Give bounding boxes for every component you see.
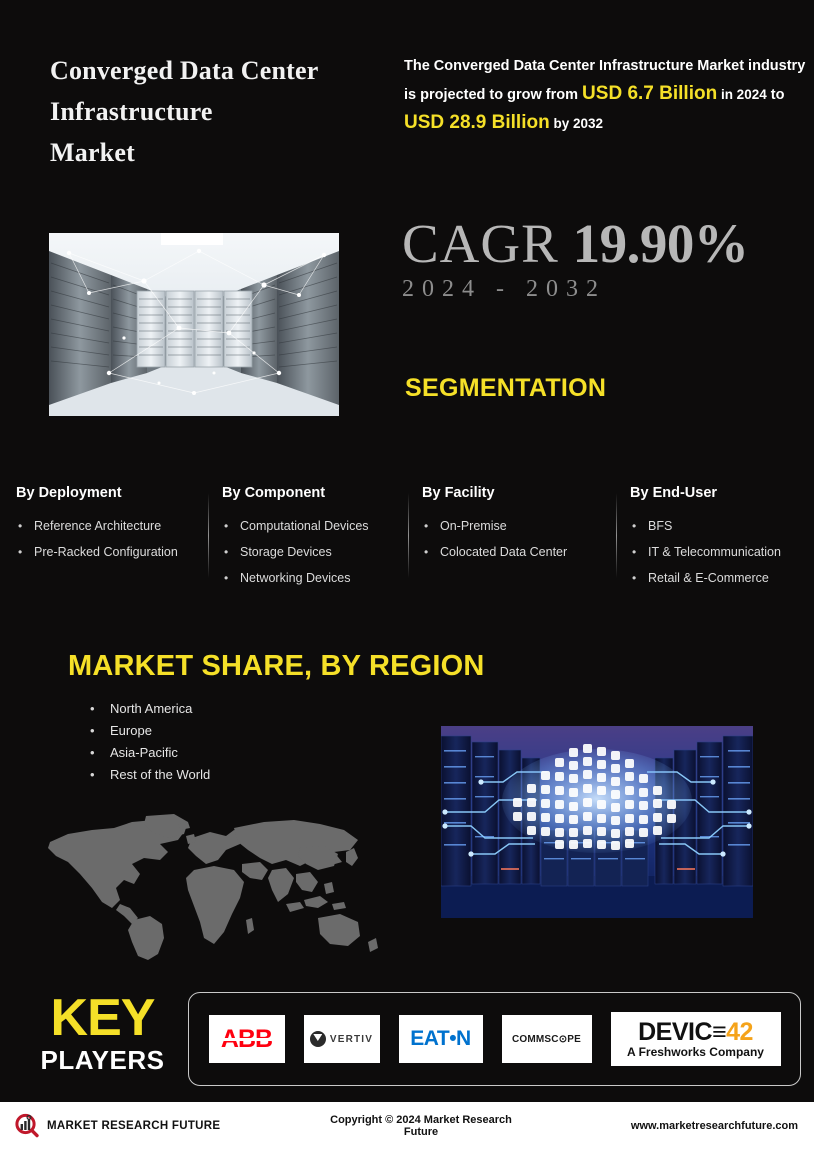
column-divider	[208, 493, 209, 578]
logo-abb-text: ABB	[221, 1025, 272, 1054]
logo-device42-number: 42	[726, 1018, 753, 1046]
cagr-label: CAGR	[402, 213, 559, 274]
region-heading: MARKET SHARE, BY REGION	[68, 650, 485, 683]
logo-device42-text: DEVIC≡	[638, 1018, 726, 1046]
infographic-root: Converged Data Center Infrastructure Mar…	[0, 0, 814, 1150]
segmentation-item-list: BFS IT & Telecommunication Retail & E-Co…	[630, 513, 814, 591]
cloud-datacenter-image	[441, 726, 753, 918]
logo-commscope: COMMSC⊙PE	[502, 1015, 592, 1063]
logo-eaton: EAT•N	[399, 1015, 483, 1063]
segmentation-heading: SEGMENTATION	[405, 374, 606, 403]
key-players-logo-box: ABB VERTIV EAT•N COMMSC⊙PE DEVIC≡42 A Fr…	[188, 992, 801, 1086]
key-players-word-players: PLAYERS	[30, 1044, 175, 1076]
segmentation-item: Computational Devices	[222, 513, 408, 539]
logo-device42-tagline: A Freshworks Company	[627, 1045, 764, 1060]
region-item: Asia-Pacific	[88, 742, 210, 764]
world-map	[28, 808, 380, 960]
logo-eaton-text: EAT•N	[410, 1027, 470, 1051]
segmentation-item: On-Premise	[422, 513, 616, 539]
segmentation-column-title: By Deployment	[16, 485, 208, 501]
segmentation-columns: By Deployment Reference Architecture Pre…	[0, 485, 814, 591]
segmentation-item: Colocated Data Center	[422, 539, 616, 565]
footer-brand-text: MARKET RESEARCH FUTURE	[47, 1120, 220, 1132]
page-title-line-3: Market	[50, 132, 380, 173]
cagr-block: CAGR 19.90% 2024 - 2032	[402, 214, 802, 303]
page-title: Converged Data Center Infrastructure Mar…	[50, 50, 380, 173]
description-value-2024: USD 6.7 Billion	[582, 83, 717, 104]
market-description: The Converged Data Center Infrastructure…	[404, 52, 814, 138]
column-divider	[408, 493, 409, 578]
key-players-word-key: KEY	[30, 992, 175, 1044]
segmentation-column-deployment: By Deployment Reference Architecture Pre…	[0, 485, 208, 591]
description-to: to	[771, 87, 785, 103]
logo-device42: DEVIC≡42 A Freshworks Company	[611, 1012, 781, 1066]
column-divider	[616, 493, 617, 578]
footer-copyright: Copyright © 2024 Market Research Future	[314, 1114, 528, 1138]
segmentation-item-list: Reference Architecture Pre-Racked Config…	[16, 513, 208, 565]
segmentation-item: IT & Telecommunication	[630, 539, 814, 565]
segmentation-column-title: By End-User	[630, 485, 814, 501]
segmentation-item: Reference Architecture	[16, 513, 208, 539]
cagr-headline: CAGR 19.90%	[402, 214, 802, 274]
region-item: Rest of the World	[88, 764, 210, 786]
page-title-line-2: Infrastructure	[50, 91, 380, 132]
page-title-line-1: Converged Data Center	[50, 50, 380, 91]
segmentation-column-title: By Facility	[422, 485, 616, 501]
segmentation-column-title: By Component	[222, 485, 408, 501]
description-value-2032: USD 28.9 Billion	[404, 112, 550, 133]
cagr-year-range: 2024 - 2032	[402, 276, 802, 303]
footer-brand: MARKET RESEARCH FUTURE	[14, 1113, 314, 1139]
footer-url[interactable]: www.marketresearchfuture.com	[528, 1120, 798, 1132]
description-year-2024: in 2024	[717, 87, 767, 102]
key-players-label: KEY PLAYERS	[30, 992, 175, 1076]
logo-vertiv-text: VERTIV	[330, 1034, 373, 1045]
cloud-datacenter-illustration	[441, 726, 753, 918]
segmentation-column-facility: By Facility On-Premise Colocated Data Ce…	[408, 485, 616, 591]
segmentation-item: Retail & E-Commerce	[630, 565, 814, 591]
segmentation-item: Pre-Racked Configuration	[16, 539, 208, 565]
description-year-2032: by 2032	[550, 116, 603, 131]
logo-commscope-text: COMMSC⊙PE	[512, 1034, 581, 1045]
segmentation-item: Networking Devices	[222, 565, 408, 591]
region-item: North America	[88, 698, 210, 720]
market-research-future-logo-icon	[14, 1113, 40, 1139]
world-map-icon	[28, 808, 380, 960]
segmentation-item: Storage Devices	[222, 539, 408, 565]
segmentation-column-end-user: By End-User BFS IT & Telecommunication R…	[616, 485, 814, 591]
cagr-value: 19.90%	[573, 213, 749, 274]
footer: MARKET RESEARCH FUTURE Copyright © 2024 …	[0, 1102, 814, 1150]
region-item: Europe	[88, 720, 210, 742]
logo-abb: ABB	[209, 1015, 285, 1063]
vertiv-mark-icon	[310, 1031, 326, 1047]
server-room-illustration	[49, 233, 339, 416]
logo-vertiv: VERTIV	[304, 1015, 380, 1063]
segmentation-column-component: By Component Computational Devices Stora…	[208, 485, 408, 591]
segmentation-item-list: Computational Devices Storage Devices Ne…	[222, 513, 408, 591]
server-room-image	[49, 233, 339, 416]
segmentation-item: BFS	[630, 513, 814, 539]
region-list: North America Europe Asia-Pacific Rest o…	[88, 698, 210, 786]
segmentation-item-list: On-Premise Colocated Data Center	[422, 513, 616, 565]
